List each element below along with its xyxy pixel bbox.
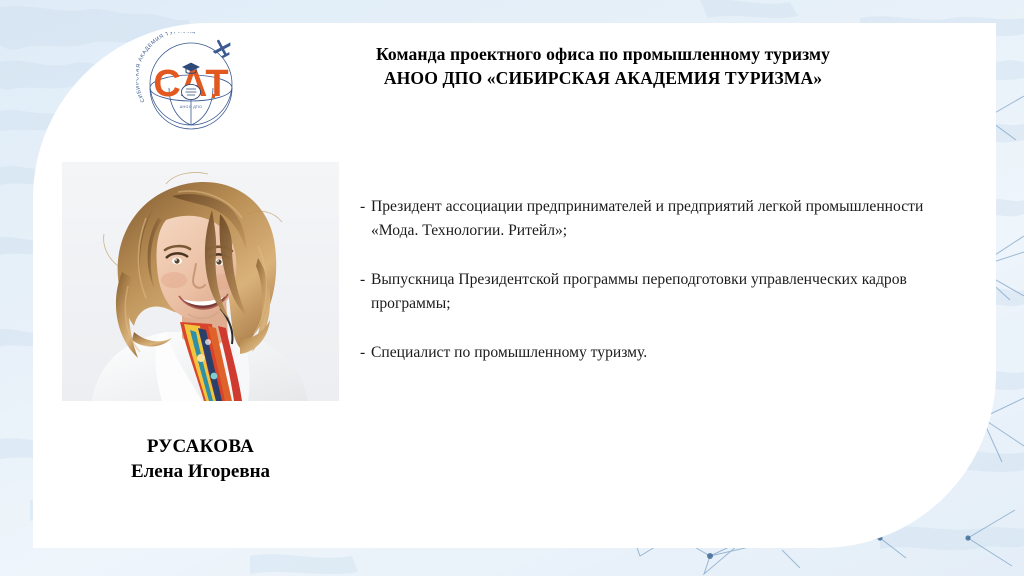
list-item: - Президент ассоциации предпринимателей …: [360, 195, 940, 243]
list-item: - Специалист по промышленному туризму.: [360, 341, 940, 365]
sat-academy-logo: СИБИРСКАЯ АКАДЕМИЯ ТУРИЗМА: [136, 32, 248, 136]
list-item-text: Специалист по промышленному туризму.: [371, 341, 940, 365]
bullet-dash-icon: -: [360, 341, 371, 365]
person-given-name: Елена Игоревна: [62, 459, 339, 484]
person-name: РУСАКОВА Елена Игоревна: [62, 434, 339, 484]
svg-text:АНОО ДПО: АНОО ДПО: [180, 105, 203, 109]
title-line-1: Команда проектного офиса по промышленном…: [258, 43, 948, 66]
bullet-dash-icon: -: [360, 195, 371, 219]
bullet-dash-icon: -: [360, 268, 371, 292]
list-item-text: Выпускница Президентской программы переп…: [371, 268, 940, 316]
slide-root: СИБИРСКАЯ АКАДЕМИЯ ТУРИЗМА: [0, 0, 1024, 576]
credentials-list: - Президент ассоциации предпринимателей …: [360, 195, 940, 365]
content-card: СИБИРСКАЯ АКАДЕМИЯ ТУРИЗМА: [33, 23, 996, 548]
title-line-2: АНОО ДПО «СИБИРСКАЯ АКАДЕМИЯ ТУРИЗМА»: [258, 66, 948, 90]
list-item: - Выпускница Президентской программы пер…: [360, 268, 940, 316]
slide-header: СИБИРСКАЯ АКАДЕМИЯ ТУРИЗМА: [33, 23, 996, 138]
person-surname: РУСАКОВА: [62, 434, 339, 459]
slide-title: Команда проектного офиса по промышленном…: [258, 43, 948, 90]
person-photo: [62, 162, 339, 401]
list-item-text: Президент ассоциации предпринимателей и …: [371, 195, 940, 243]
